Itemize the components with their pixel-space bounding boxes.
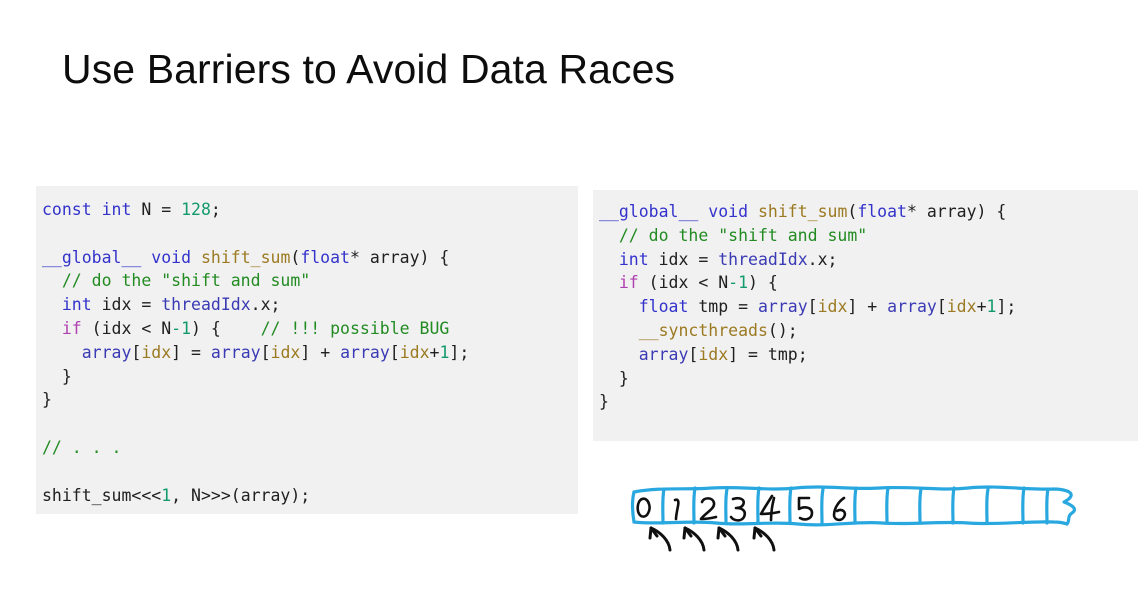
code-token: +	[977, 297, 987, 316]
code-token: void	[151, 248, 191, 267]
code-token: .x;	[251, 295, 281, 314]
code-token: , N>>>(array);	[171, 486, 310, 505]
fixed-code-line-6: __syncthreads();	[599, 319, 1128, 343]
code-token: idx	[400, 343, 430, 362]
code-token: array	[340, 343, 390, 362]
cell-digits	[638, 496, 845, 520]
code-token: idx	[271, 343, 301, 362]
fixed-code-line-7: array[idx] = tmp;	[599, 343, 1128, 367]
code-token: 1	[439, 343, 449, 362]
array-sketch	[620, 476, 1090, 560]
code-token: -1	[171, 319, 191, 338]
code-token: int	[619, 250, 649, 269]
code-token	[698, 202, 708, 221]
buggy-code-line-4: // do the "shift and sum"	[42, 269, 568, 293]
shift-arrows	[650, 528, 774, 550]
code-token: [	[688, 345, 698, 364]
code-token: // !!! possible BUG	[261, 319, 450, 338]
code-token: }	[599, 369, 629, 388]
code-token: 1	[161, 486, 171, 505]
code-token: [	[808, 297, 818, 316]
code-token: }	[42, 390, 52, 409]
code-token: int	[62, 295, 92, 314]
code-token: ();	[768, 321, 798, 340]
code-token: const	[42, 200, 92, 219]
code-token: [	[131, 343, 141, 362]
code-token: shift_sum<<<	[42, 486, 161, 505]
code-token: (	[847, 202, 857, 221]
code-token: threadIdx	[718, 250, 807, 269]
buggy-code-line-9: }	[42, 388, 568, 412]
code-token: 128	[181, 200, 211, 219]
buggy-code-line-6: if (idx < N-1) { // !!! possible BUG	[42, 317, 568, 341]
code-token: if	[619, 273, 639, 292]
buggy-code-line-2	[42, 222, 568, 246]
code-token: [	[937, 297, 947, 316]
buggy-code-line-1: const int N = 128;	[42, 198, 568, 222]
code-token	[92, 200, 102, 219]
code-token: __global__	[599, 202, 698, 221]
array-outline-icon	[633, 487, 1075, 525]
code-token: idx	[698, 345, 728, 364]
code-token: (	[290, 248, 300, 267]
code-token: }	[42, 367, 72, 386]
code-token	[141, 248, 151, 267]
code-token: [	[261, 343, 271, 362]
fixed-code-line-5: float tmp = array[idx] + array[idx+1];	[599, 295, 1128, 319]
buggy-code-line-13: shift_sum<<<1, N>>>(array);	[42, 484, 568, 508]
code-token: void	[708, 202, 748, 221]
code-token: float	[300, 248, 350, 267]
code-token	[599, 297, 639, 316]
buggy-code-line-7: array[idx] = array[idx] + array[idx+1];	[42, 341, 568, 365]
code-token: }	[599, 392, 609, 411]
code-token	[42, 319, 62, 338]
code-token	[42, 343, 82, 362]
fixed-code-line-4: if (idx < N-1) {	[599, 271, 1128, 295]
code-token: (idx < N	[82, 319, 171, 338]
code-token: ;	[211, 200, 221, 219]
code-token: // do the "shift and sum"	[42, 271, 310, 290]
code-token: ) {	[191, 319, 261, 338]
code-token: [	[390, 343, 400, 362]
code-token: array	[887, 297, 937, 316]
code-token: array	[758, 297, 808, 316]
code-token: threadIdx	[161, 295, 250, 314]
code-token: (idx < N	[639, 273, 728, 292]
code-token: +	[430, 343, 440, 362]
code-token: array	[211, 343, 261, 362]
code-token: idx =	[92, 295, 162, 314]
code-token: float	[857, 202, 907, 221]
code-block-fixed: __global__ void shift_sum(float* array) …	[593, 190, 1138, 441]
code-token: __syncthreads	[639, 321, 768, 340]
buggy-code-line-5: int idx = threadIdx.x;	[42, 293, 568, 317]
code-token	[599, 321, 639, 340]
code-token	[748, 202, 758, 221]
code-token: ] +	[847, 297, 887, 316]
code-token	[191, 248, 201, 267]
code-token: int	[102, 200, 132, 219]
buggy-code-line-3: __global__ void shift_sum(float* array) …	[42, 246, 568, 270]
code-token	[599, 250, 619, 269]
code-token: idx	[818, 297, 848, 316]
code-token: idx	[947, 297, 977, 316]
fixed-code-line-2: // do the "shift and sum"	[599, 224, 1128, 248]
buggy-code-line-12	[42, 460, 568, 484]
fixed-code-line-9: }	[599, 390, 1128, 414]
buggy-code-line-10	[42, 412, 568, 436]
code-token	[42, 295, 62, 314]
code-token: ] =	[171, 343, 211, 362]
code-token: // do the "shift and sum"	[599, 226, 867, 245]
code-token: shift_sum	[758, 202, 847, 221]
code-token: if	[62, 319, 82, 338]
code-token: idx	[141, 343, 171, 362]
code-token: .x;	[808, 250, 838, 269]
code-token: 1	[987, 297, 997, 316]
buggy-code-line-11: // . . .	[42, 436, 568, 460]
code-block-buggy: const int N = 128; __global__ void shift…	[36, 186, 578, 514]
fixed-code-line-8: }	[599, 367, 1128, 391]
code-token: ] +	[300, 343, 340, 362]
fixed-code-line-3: int idx = threadIdx.x;	[599, 248, 1128, 272]
code-token: ) {	[748, 273, 778, 292]
code-token	[599, 273, 619, 292]
code-token: float	[639, 297, 689, 316]
code-token: array	[82, 343, 132, 362]
code-token: // . . .	[42, 438, 121, 457]
buggy-code-line-8: }	[42, 365, 568, 389]
code-token: -1	[728, 273, 748, 292]
code-token: * array) {	[350, 248, 449, 267]
code-token: idx =	[649, 250, 719, 269]
code-token: * array) {	[907, 202, 1006, 221]
fixed-code-line-1: __global__ void shift_sum(float* array) …	[599, 200, 1128, 224]
code-token: array	[639, 345, 689, 364]
code-token: __global__	[42, 248, 141, 267]
code-token: ];	[449, 343, 469, 362]
page-title: Use Barriers to Avoid Data Races	[62, 44, 675, 94]
code-token: shift_sum	[201, 248, 290, 267]
code-token: N =	[131, 200, 181, 219]
code-token: tmp =	[688, 297, 758, 316]
code-token: ];	[996, 297, 1016, 316]
code-token: ] = tmp;	[728, 345, 807, 364]
code-token	[599, 345, 639, 364]
